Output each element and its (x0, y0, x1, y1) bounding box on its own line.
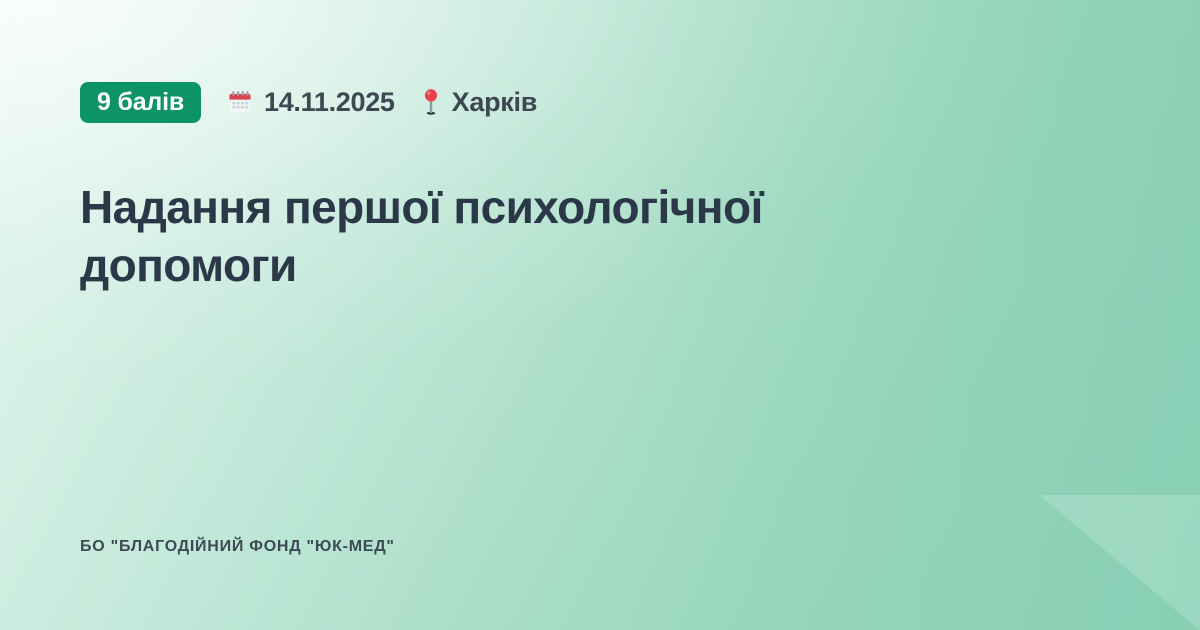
meta-row: 9 балів (80, 78, 537, 126)
page-title: Надання першої психологічної допомоги (80, 178, 980, 295)
event-location: Харків (452, 87, 537, 118)
points-badge: 9 балів (80, 82, 201, 123)
organization-name: БО "БЛАГОДІЙНИЙ ФОНД "ЮК-МЕД" (80, 538, 395, 556)
map-pin-icon (421, 88, 441, 116)
event-date: 14.11.2025 (264, 87, 395, 118)
calendar-icon (227, 89, 253, 115)
meta-date: 14.11.2025 (227, 87, 395, 118)
event-card: 9 балів (0, 0, 1200, 630)
card-content: 9 балів (0, 0, 1200, 630)
meta-location: Харків (421, 87, 537, 118)
